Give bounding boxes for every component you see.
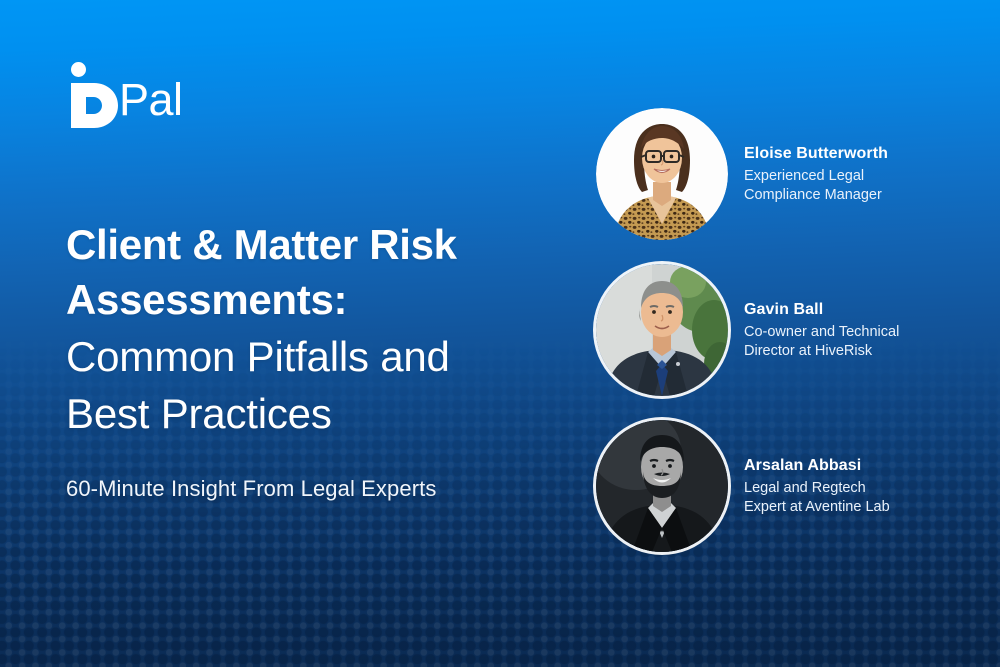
speaker-role-line-1: Co-owner and Technical (744, 323, 899, 341)
speaker-role-line-2: Director at HiveRisk (744, 342, 899, 360)
speaker-item: Gavin Ball Co-owner and Technical Direct… (596, 264, 986, 396)
speaker-role-line-1: Legal and Regtech (744, 479, 890, 497)
id-ligature-mark-icon (66, 62, 120, 128)
subtitle: 60-Minute Insight From Legal Experts (66, 476, 436, 502)
speaker-item: Arsalan Abbasi Legal and Regtech Expert … (596, 420, 986, 552)
title-line-3: Common Pitfalls and (66, 327, 586, 384)
title-line-4: Best Practices (66, 384, 586, 441)
brand-logo[interactable]: Pal (66, 62, 183, 128)
speaker-item: Eloise Butterworth Experienced Legal Com… (596, 108, 986, 240)
speaker-name: Gavin Ball (744, 300, 899, 320)
portrait-man-beard-blackandwhite-image (596, 420, 728, 552)
speaker-info: Gavin Ball Co-owner and Technical Direct… (744, 300, 899, 360)
speaker-role-line-2: Expert at Aventine Lab (744, 498, 890, 516)
speaker-name: Eloise Butterworth (744, 144, 888, 164)
title-line-1: Client & Matter Risk (66, 218, 586, 273)
avatar (596, 264, 728, 396)
page-title: Client & Matter Risk Assessments: Common… (66, 218, 586, 441)
avatar (596, 420, 728, 552)
speaker-role-line-1: Experienced Legal (744, 167, 888, 185)
brand-logo-word: Pal (119, 77, 183, 122)
speaker-list: Eloise Butterworth Experienced Legal Com… (596, 108, 986, 576)
speaker-name: Arsalan Abbasi (744, 456, 890, 476)
avatar (596, 108, 728, 240)
portrait-man-suit-blue-tie-image (596, 264, 728, 396)
speaker-info: Arsalan Abbasi Legal and Regtech Expert … (744, 456, 890, 516)
webinar-promo-banner: Pal Client & Matter Risk Assessments: Co… (0, 0, 1000, 667)
title-line-2: Assessments: (66, 273, 586, 328)
portrait-woman-glasses-leopard-print-image (596, 108, 728, 240)
speaker-role-line-2: Compliance Manager (744, 186, 888, 204)
speaker-info: Eloise Butterworth Experienced Legal Com… (744, 144, 888, 204)
